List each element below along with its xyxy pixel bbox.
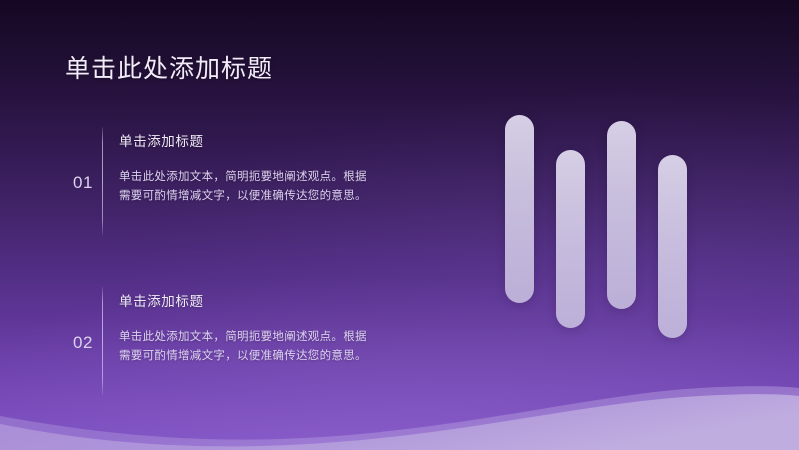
content-block-01: 01 单击添加标题 单击此处添加文本，简明扼要地阐述观点。根据需要可酌情增减文字… bbox=[64, 126, 394, 238]
presentation-slide: 单击此处添加标题 01 单击添加标题 单击此处添加文本，简明扼要地阐述观点。根据… bbox=[0, 0, 799, 450]
decorative-bar-3 bbox=[607, 121, 636, 309]
block-heading-02[interactable]: 单击添加标题 bbox=[119, 292, 394, 312]
block-text-02[interactable]: 单击此处添加文本，简明扼要地阐述观点。根据需要可酌情增减文字，以便准确传达您的意… bbox=[119, 328, 377, 366]
content-block-02: 02 单击添加标题 单击此处添加文本，简明扼要地阐述观点。根据需要可酌情增减文字… bbox=[64, 286, 394, 398]
block-body-01: 单击添加标题 单击此处添加文本，简明扼要地阐述观点。根据需要可酌情增减文字，以便… bbox=[103, 126, 394, 238]
decorative-bar-2 bbox=[556, 150, 585, 328]
decorative-bar-1 bbox=[505, 115, 534, 303]
page-title[interactable]: 单击此处添加标题 bbox=[65, 53, 273, 85]
block-number-02: 02 bbox=[64, 286, 102, 398]
decorative-bar-4 bbox=[658, 155, 687, 338]
block-number-01: 01 bbox=[64, 126, 102, 238]
block-body-02: 单击添加标题 单击此处添加文本，简明扼要地阐述观点。根据需要可酌情增减文字，以便… bbox=[103, 286, 394, 398]
block-heading-01[interactable]: 单击添加标题 bbox=[119, 132, 394, 152]
block-text-01[interactable]: 单击此处添加文本，简明扼要地阐述观点。根据需要可酌情增减文字，以便准确传达您的意… bbox=[119, 168, 377, 206]
